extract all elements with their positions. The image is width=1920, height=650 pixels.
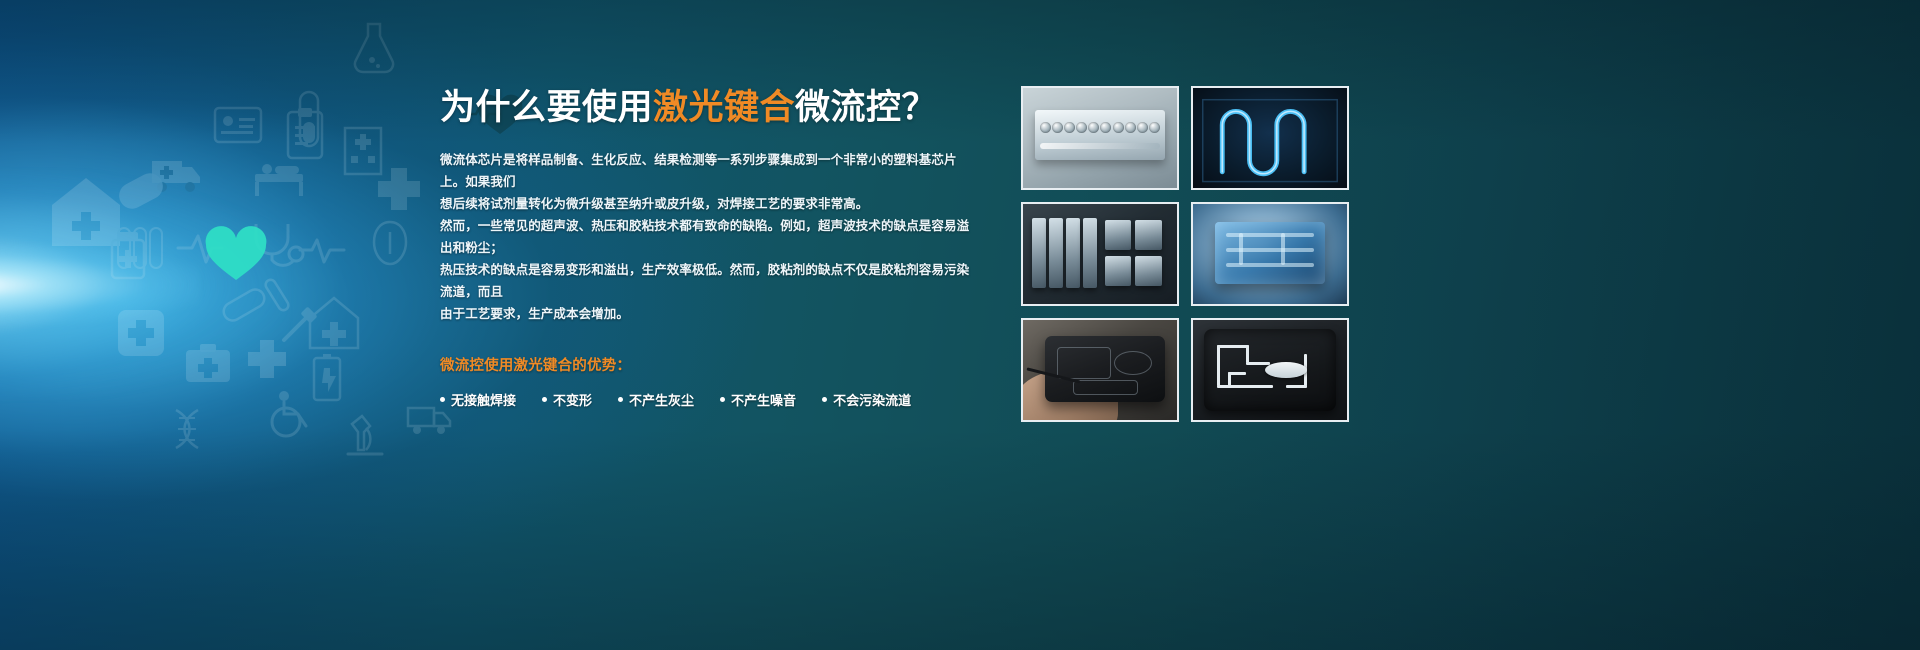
test-tube-icon: [300, 92, 318, 146]
battery-icon: [314, 354, 340, 400]
microscope-icon: [348, 416, 382, 454]
list-item: 不变形: [542, 390, 592, 409]
heart-icon: [206, 226, 267, 280]
headline-tail: 微流控？: [795, 88, 937, 128]
hero-copy: 为什么要使用激光键合微流控？ 微流体芯片是将样品制备、生化反应、结果检测等一系列…: [440, 86, 970, 409]
dna-icon: [176, 410, 198, 448]
advantages-list: 无接触焊接 不变形 不产生灰尘 不产生噪音 不会污染流道: [440, 390, 970, 409]
kidney-icon: [374, 222, 406, 264]
list-item-label: 不变形: [553, 390, 592, 409]
bullet-dot-icon: [618, 397, 623, 402]
list-item-label: 无接触焊接: [451, 390, 516, 409]
gallery-photo-black-cartridge-with-oval-chamber[interactable]: [1191, 318, 1349, 422]
gallery-photo-glowing-blue-serpentine-channel-chip[interactable]: [1191, 86, 1349, 190]
pill-icon: [115, 169, 168, 214]
plus-cross-icon: [248, 340, 286, 378]
ambulance-icon: [408, 408, 450, 434]
gallery-photo-clear-microfluidic-strips-on-dark-tray[interactable]: [1021, 202, 1179, 306]
hospital-bed-icon: [255, 164, 303, 196]
clipboard-icon: [288, 108, 322, 158]
bullet-dot-icon: [542, 397, 547, 402]
list-item: 不产生噪音: [720, 390, 796, 409]
page-title: 为什么要使用激光键合微流控？: [440, 86, 970, 130]
house-medical-icon: [310, 298, 358, 348]
headline-accent: 激光键合: [653, 88, 795, 128]
wheelchair-icon: [272, 391, 306, 436]
list-item-label: 不产生噪音: [731, 390, 796, 409]
hospital-building-icon: [345, 128, 381, 174]
plus-cross-icon: [378, 168, 420, 210]
list-item: 不产生灰尘: [618, 390, 694, 409]
list-item-label: 不产生灰尘: [629, 390, 694, 409]
list-item-label: 不会污染流道: [833, 390, 911, 409]
paragraph-line: 由于工艺要求，生产成本会增加。: [440, 303, 970, 325]
hero-banner: 为什么要使用激光键合微流控？ 微流体芯片是将样品制备、生化反应、结果检测等一系列…: [0, 0, 1920, 650]
list-item: 无接触焊接: [440, 390, 516, 409]
list-item: 不会污染流道: [822, 390, 911, 409]
bullet-dot-icon: [720, 397, 725, 402]
advantages-subheading: 微流控使用激光键合的优势：: [440, 356, 970, 376]
light-beam-core: [0, 245, 200, 325]
body-paragraphs: 微流体芯片是将样品制备、生化反应、结果检测等一系列步骤集成到一个非常小的塑料基芯…: [440, 149, 970, 325]
paragraph-line: 然而，一些常见的超声波、热压和胶粘技术都有致命的缺陷。例如，超声波技术的缺点是容…: [440, 215, 970, 259]
house-medical-icon: [52, 178, 120, 246]
headline-lead: 为什么要使用: [440, 88, 653, 128]
bullet-dot-icon: [822, 397, 827, 402]
flask-icon: [355, 24, 393, 72]
ambulance-icon: [152, 161, 200, 192]
syringe-icon: [284, 307, 317, 340]
paragraph-line: 微流体芯片是将样品制备、生化反应、结果检测等一系列步骤集成到一个非常小的塑料基芯…: [440, 149, 970, 193]
gallery-photo-microfluidic-chip-strip-with-wells[interactable]: [1021, 86, 1179, 190]
id-card-icon: [215, 108, 261, 142]
bullet-dot-icon: [440, 397, 445, 402]
product-photo-grid: [1021, 86, 1349, 422]
thermometer-icon: [264, 278, 290, 312]
first-aid-kit-icon: [186, 344, 230, 382]
pulse-monitor-icon: [300, 240, 344, 262]
gallery-photo-blue-translucent-manifold-block[interactable]: [1191, 202, 1349, 306]
bandage-icon: [220, 286, 267, 324]
gallery-photo-hand-holding-black-flexible-chip[interactable]: [1021, 318, 1179, 422]
stethoscope-icon: [256, 224, 303, 265]
paragraph-line: 热压技术的缺点是容易变形和溢出，生产效率极低。然而，胶粘剂的缺点不仅是胶粘剂容易…: [440, 259, 970, 303]
paragraph-line: 想后续将试剂量转化为微升级甚至纳升或皮升级，对焊接工艺的要求非常高。: [440, 193, 970, 215]
